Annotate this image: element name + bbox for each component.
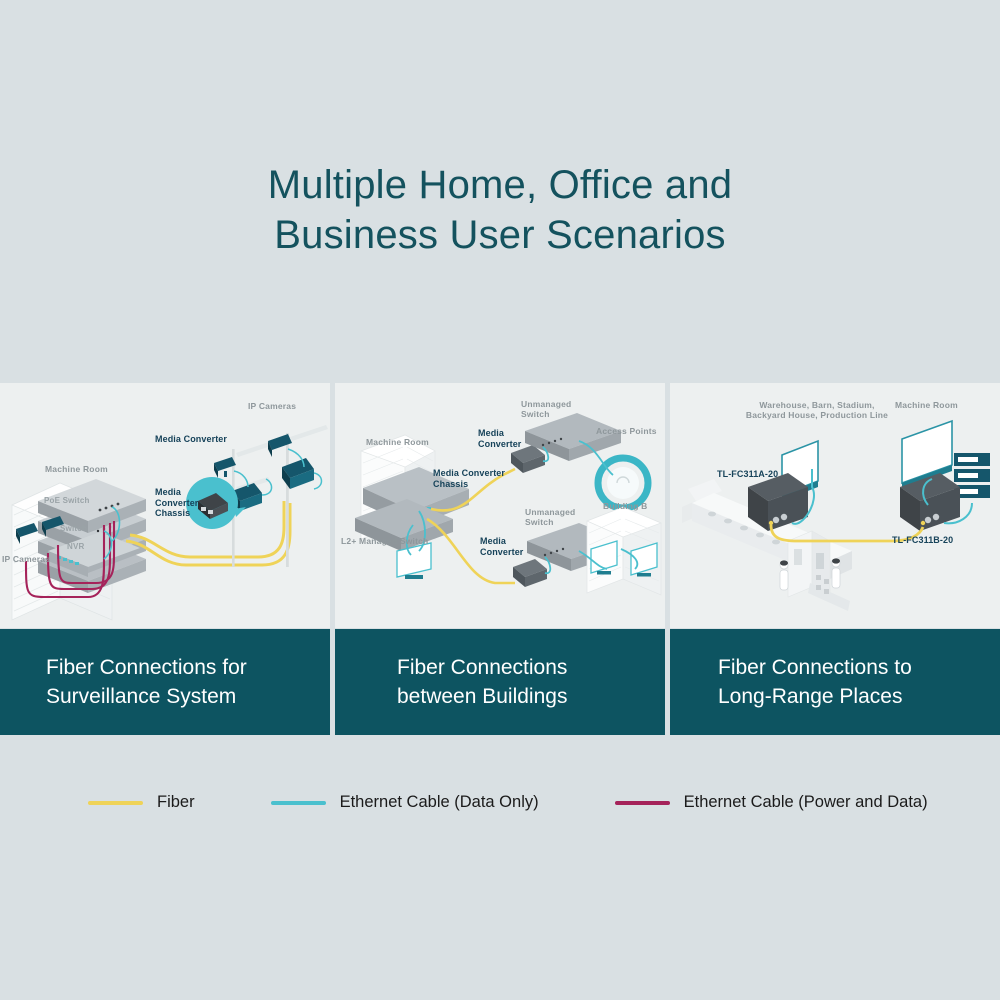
ethernet-data-swatch-icon bbox=[271, 801, 326, 805]
label-machine-room: Machine Room bbox=[45, 464, 108, 474]
panel-surveillance-diagram: Machine Room PoE Switch Switch NVR IP Ca… bbox=[0, 383, 330, 628]
legend-item-fiber: Fiber bbox=[88, 793, 195, 812]
label-building-b: Building B bbox=[603, 501, 648, 511]
label-media-converter: Media Converter bbox=[155, 434, 227, 445]
legend-label-ethernet-power-data: Ethernet Cable (Power and Data) bbox=[684, 793, 928, 812]
label-media-converter-bot: Media Converter bbox=[480, 536, 523, 557]
panel-between-buildings-diagram: Machine Room L2+ Managed Switch Media Co… bbox=[335, 383, 665, 628]
page-title-line-2: Business User Scenarios bbox=[0, 210, 1000, 260]
fiber-swatch-icon bbox=[88, 801, 143, 805]
scenario-infographic: Multiple Home, Office and Business User … bbox=[0, 0, 1000, 1000]
caption-surveillance: Fiber Connections for Surveillance Syste… bbox=[0, 629, 330, 735]
caption-between-buildings-text: Fiber Connections between Buildings bbox=[397, 653, 567, 711]
panel-captions: Fiber Connections for Surveillance Syste… bbox=[0, 629, 1000, 735]
legend-label-ethernet-data: Ethernet Cable (Data Only) bbox=[340, 793, 539, 812]
page-title-line-1: Multiple Home, Office and bbox=[0, 160, 1000, 210]
caption-surveillance-text: Fiber Connections for Surveillance Syste… bbox=[46, 653, 247, 711]
legend-item-ethernet-power-data: Ethernet Cable (Power and Data) bbox=[615, 793, 928, 812]
scenario-panels: Machine Room PoE Switch Switch NVR IP Ca… bbox=[0, 383, 1000, 628]
label-nvr: NVR bbox=[67, 542, 85, 551]
label-mc-chassis-2: Media Converter Chassis bbox=[433, 468, 505, 489]
label-access-points: Access Points bbox=[596, 426, 657, 436]
label-site-types: Warehouse, Barn, Stadium, Backyard House… bbox=[722, 400, 912, 420]
legend-item-ethernet-data: Ethernet Cable (Data Only) bbox=[271, 793, 539, 812]
legend-label-fiber: Fiber bbox=[157, 793, 195, 812]
label-machine-room-3: Machine Room bbox=[895, 400, 958, 410]
label-poe-switch: PoE Switch bbox=[44, 496, 90, 505]
label-ip-cameras-right: IP Cameras bbox=[248, 401, 296, 411]
cable-legend: Fiber Ethernet Cable (Data Only) Etherne… bbox=[0, 793, 1000, 812]
label-machine-room-2: Machine Room bbox=[366, 437, 429, 447]
label-mc-chassis: Media Converter Chassis bbox=[155, 487, 198, 519]
label-ip-cameras-left: IP Cameras bbox=[2, 554, 50, 564]
caption-long-range-text: Fiber Connections to Long-Range Places bbox=[718, 653, 912, 711]
caption-long-range: Fiber Connections to Long-Range Places bbox=[670, 629, 1000, 735]
label-media-converter-top: Media Converter bbox=[478, 428, 521, 449]
label-unmanaged-switch-top: Unmanaged Switch bbox=[521, 399, 571, 419]
label-device-b: TL-FC311B-20 bbox=[892, 535, 953, 546]
media-converter-bottom-shape bbox=[513, 559, 547, 587]
page-title: Multiple Home, Office and Business User … bbox=[0, 160, 1000, 260]
panel-long-range-diagram: Warehouse, Barn, Stadium, Backyard House… bbox=[670, 383, 1000, 628]
label-l2-managed-switch: L2+ Managed Switch bbox=[341, 536, 428, 546]
caption-between-buildings: Fiber Connections between Buildings bbox=[335, 629, 665, 735]
label-device-a: TL-FC311A-20 bbox=[717, 469, 778, 480]
ethernet-power-data-swatch-icon bbox=[615, 801, 670, 805]
label-unmanaged-switch-bot: Unmanaged Switch bbox=[525, 507, 575, 527]
label-switch: Switch bbox=[60, 524, 87, 533]
